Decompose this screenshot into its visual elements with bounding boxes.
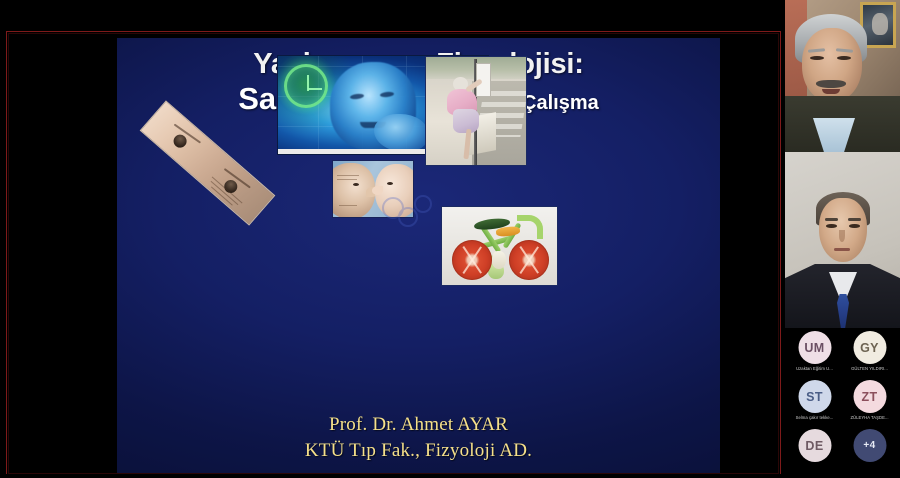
participant-sidebar[interactable]: UM Uzaktan Eğitim U... GY GÜLTEN YILDIRI…	[785, 0, 900, 474]
participant-row: ST Selma çakır tekke... ZT ZÜLEYHA TAŞDE…	[787, 380, 898, 429]
participant-video-tile-2[interactable]	[785, 152, 900, 328]
slide-image-vegetable-bicycle	[441, 206, 558, 286]
avatar: GY	[853, 331, 886, 364]
participant-overflow-count[interactable]: +4	[842, 429, 897, 478]
participant-name: ZÜLEYHA TAŞDE...	[842, 415, 897, 420]
participant-item-de[interactable]: DE	[787, 429, 842, 478]
participant-name: Uzaktan Eğitim U...	[787, 366, 842, 371]
avatar: UM	[798, 331, 831, 364]
participant-avatar-grid[interactable]: UM Uzaktan Eğitim U... GY GÜLTEN YILDIRI…	[785, 328, 900, 474]
avatar: ZT	[853, 380, 886, 413]
participant-item-gy[interactable]: GY GÜLTEN YILDIRI...	[842, 331, 897, 380]
avatar-more: +4	[853, 429, 886, 462]
presentation-frame: Yaşlanmanın Fizyolojisi: Sağlıklı Yaşama…	[6, 31, 781, 474]
participant-name: GÜLTEN YILDIRI...	[842, 366, 897, 371]
slide-image-street-stretch	[425, 56, 527, 166]
avatar: DE	[798, 429, 831, 462]
participant-video-tile-1[interactable]	[785, 0, 900, 152]
clock-icon	[284, 64, 328, 108]
participant-name: Selma çakır tekke...	[787, 415, 842, 420]
participant-row: UM Uzaktan Eğitim U... GY GÜLTEN YILDIRI…	[787, 331, 898, 380]
author-name: Prof. Dr. Ahmet AYAR	[117, 412, 720, 438]
participant-item-um[interactable]: UM Uzaktan Eğitim U...	[787, 331, 842, 380]
participant-item-st[interactable]: ST Selma çakır tekke...	[787, 380, 842, 429]
author-affiliation: KTÜ Tıp Fak., Fizyoloji AD.	[117, 438, 720, 464]
shared-screen-stage[interactable]: Yaşlanmanın Fizyolojisi: Sağlıklı Yaşama…	[0, 0, 785, 474]
video-conference-window: Yaşlanmanın Fizyolojisi: Sağlıklı Yaşama…	[0, 0, 900, 474]
slide-author-block: Prof. Dr. Ahmet AYAR KTÜ Tıp Fak., Fizyo…	[117, 412, 720, 464]
presentation-slide: Yaşlanmanın Fizyolojisi: Sağlıklı Yaşama…	[117, 38, 720, 474]
decorative-rings	[382, 193, 436, 233]
avatar: ST	[798, 380, 831, 413]
participant-item-zt[interactable]: ZT ZÜLEYHA TAŞDE...	[842, 380, 897, 429]
participant-row: DE +4	[787, 429, 898, 478]
slide-title-line-2-small: Çalışma	[522, 92, 599, 114]
